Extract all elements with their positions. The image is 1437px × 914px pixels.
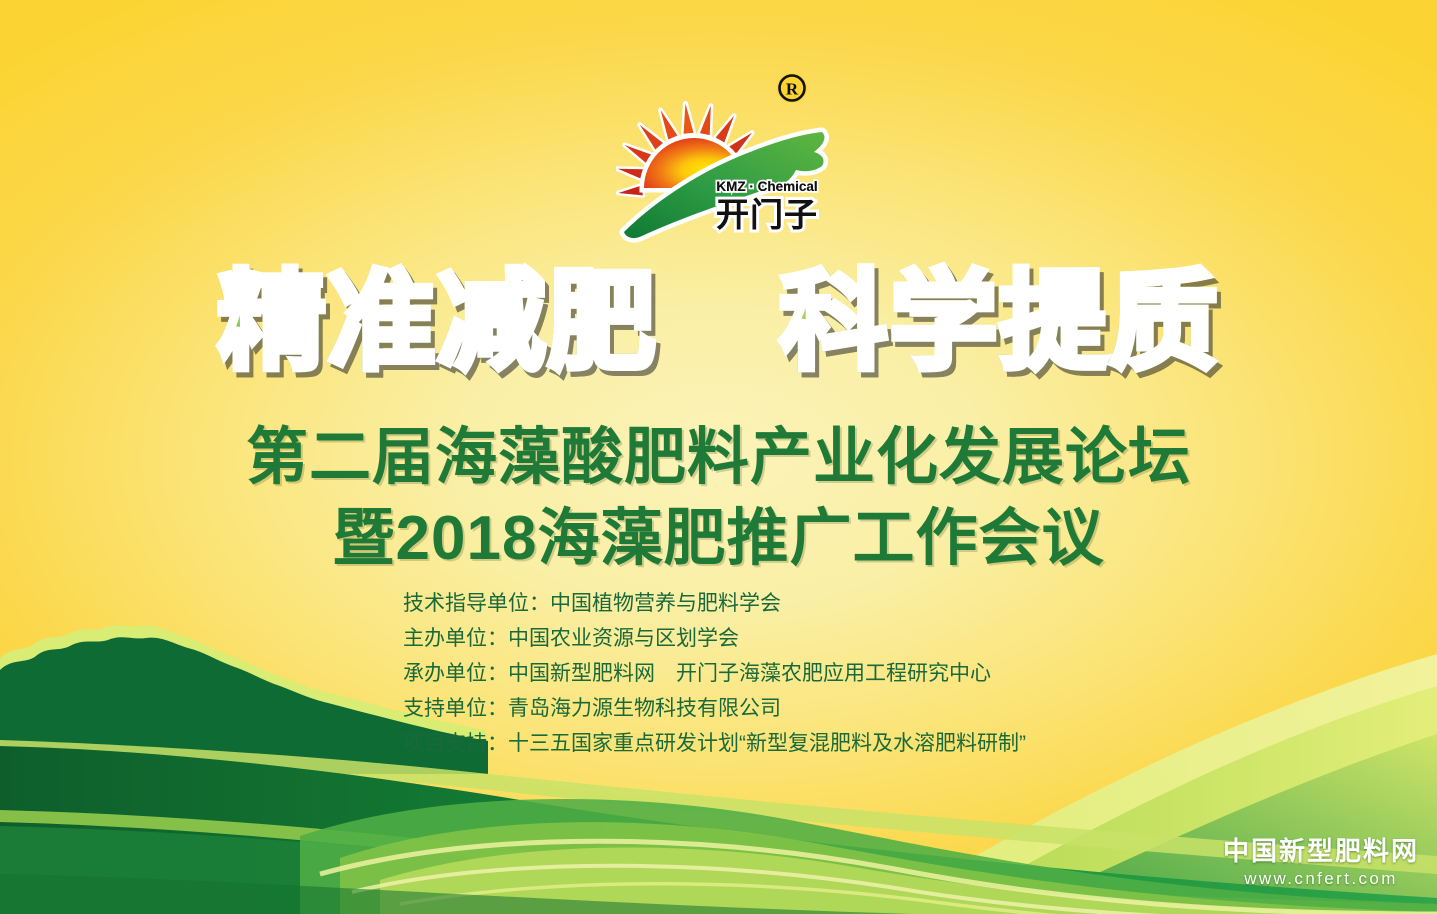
watermark-site-url: www.cnfert.com	[1223, 868, 1419, 890]
logo-cn-wordmark-fill: 开门子	[716, 195, 818, 234]
credit-line-project-support: 项目支持：十三五国家重点研发计划“新型复混肥料及水溶肥料研制”	[403, 726, 1163, 761]
logo-latin-wordmark-fill: KMZ · Chemical	[716, 179, 817, 194]
logo-artwork: R KMZ · Chemical KMZ · Chemical 开门子 开门子	[616, 60, 846, 250]
poster-canvas: R KMZ · Chemical KMZ · Chemical 开门子 开门子 …	[0, 0, 1437, 914]
registered-trademark-icon: R	[777, 73, 807, 103]
headline-part-2: 科学提质	[780, 268, 1220, 376]
watermark-site-name: 中国新型肥料网	[1223, 836, 1419, 866]
headline-part-1: 精准减肥	[217, 268, 657, 376]
credits-block: 技术指导单位：中国植物营养与肥料学会 主办单位：中国农业资源与区划学会 承办单位…	[403, 586, 1163, 761]
subtitle-line-1: 第二届海藻酸肥料产业化发展论坛	[0, 406, 1437, 496]
credit-line-supporter: 支持单位：青岛海力源生物科技有限公司	[403, 691, 1163, 726]
credit-line-host: 主办单位：中国农业资源与区划学会	[403, 621, 1163, 656]
credit-line-organizer: 承办单位：中国新型肥料网 开门子海藻农肥应用工程研究中心	[403, 656, 1163, 691]
credit-line-technical-guidance: 技术指导单位：中国植物营养与肥料学会	[403, 586, 1163, 621]
brand-logo: R KMZ · Chemical KMZ · Chemical 开门子 开门子	[616, 60, 846, 250]
svg-text:R: R	[786, 80, 799, 99]
subtitle-line-2: 暨2018海藻肥推广工作会议	[0, 487, 1437, 577]
poster-headline: 精准减肥 科学提质	[0, 268, 1437, 376]
site-watermark: 中国新型肥料网 www.cnfert.com	[1223, 836, 1419, 890]
